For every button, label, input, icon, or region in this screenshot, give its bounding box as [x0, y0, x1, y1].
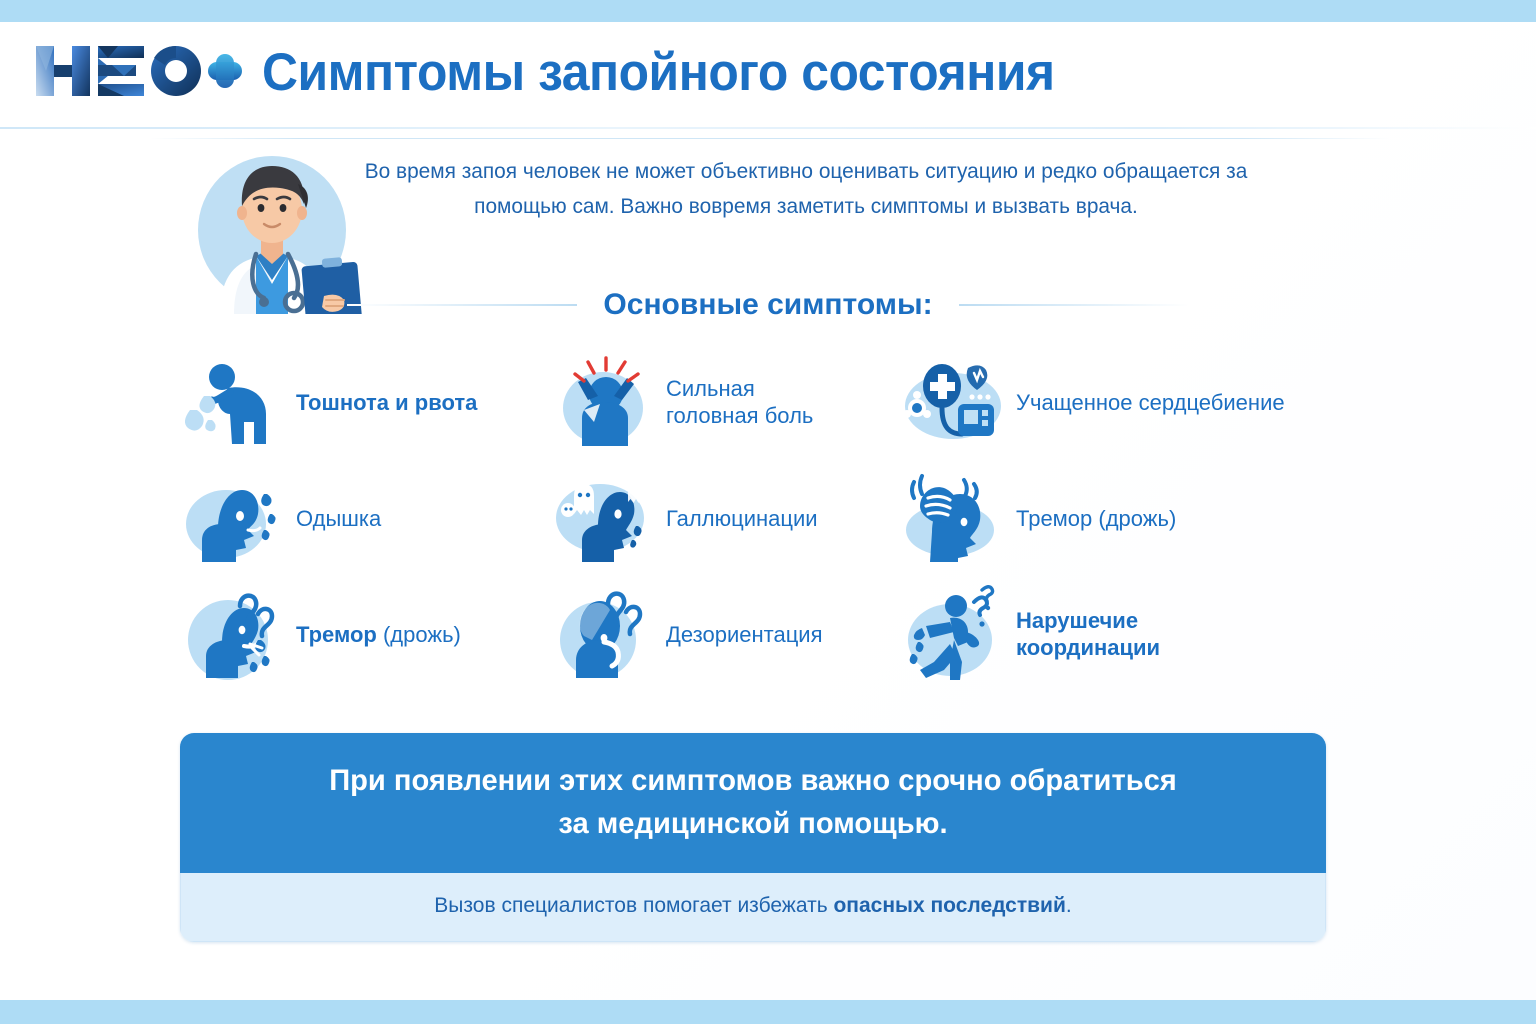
symptom-label-line-2: головная боль — [666, 403, 813, 428]
disorientation-icon — [548, 584, 658, 684]
symptom-label-suffix: (дрожь) — [377, 622, 461, 647]
banner-note: Вызов специалистов помогает избежать опа… — [180, 873, 1326, 942]
symptom-item: Тремор (дрожь) — [898, 460, 1338, 576]
symptom-label-line-1: Нарушечие — [1016, 608, 1138, 633]
banner-headline: При появлении этих симптомов важно срочн… — [180, 733, 1326, 873]
symptom-item: Одышка — [178, 460, 548, 576]
call-to-action-banner: При появлении этих симптомов важно срочн… — [180, 733, 1326, 942]
tremor-head-icon — [898, 468, 1008, 568]
symptom-label: Нарушечиекоординации — [1016, 607, 1160, 661]
symptom-item: Галлюцинации — [548, 460, 898, 576]
symptom-item: Учащенное сердцебиение — [898, 344, 1338, 460]
symptom-label: Тремор (дрожь) — [1016, 505, 1176, 532]
page-header: Симптомы запойного состояния — [0, 22, 1536, 128]
symptom-item: Тошнота и рвота — [178, 344, 548, 460]
symptom-label: Дезориентация — [666, 621, 823, 648]
tremor-sweat-icon — [178, 584, 288, 684]
note-prefix: Вызов специалистов помогает избежать — [434, 894, 833, 917]
symptom-label-line-2: координации — [1016, 635, 1160, 660]
symptom-label: Сильнаяголовная боль — [666, 375, 813, 429]
banner-headline-line-1: При появлении этих симптомов важно срочн… — [236, 759, 1270, 802]
banner-headline-line-2: за медицинской помощью. — [236, 802, 1270, 845]
symptom-label: Тошнота и рвота — [296, 389, 477, 416]
neo-plus-logo — [32, 40, 242, 102]
symptom-label-line-1: Учащенное сердцебиение — [1016, 390, 1285, 415]
heading-rule-left — [347, 304, 577, 306]
note-emphasis: опасных последствий — [833, 894, 1065, 917]
symptoms-grid: Тошнота и рвота Сильнаяголовная боль — [178, 344, 1338, 692]
top-accent-band — [0, 0, 1536, 22]
hallucinations-icon — [548, 468, 658, 568]
vomiting-icon — [178, 352, 288, 452]
page-title: Симптомы запойного состояния — [262, 42, 1055, 103]
banner-note-text: Вызов специалистов помогает избежать опа… — [434, 894, 1071, 917]
symptom-item: Сильнаяголовная боль — [548, 344, 898, 460]
headache-icon — [548, 352, 658, 452]
note-suffix: . — [1066, 894, 1072, 917]
intro-section: Во время запоя человек не может объектив… — [0, 132, 1536, 282]
section-heading: Основные симптомы: — [603, 288, 932, 322]
symptom-label-line-1: Сильная — [666, 376, 755, 401]
infographic-page: Симптомы запойного состояния — [0, 0, 1536, 1024]
symptom-label: Тремор (дрожь) — [296, 621, 461, 648]
header-divider — [0, 127, 1536, 129]
symptom-item: Нарушечиекоординации — [898, 576, 1338, 692]
intro-divider — [150, 138, 1390, 139]
shortness-breath-icon — [178, 468, 288, 568]
symptom-label-line-1: Тремор — [296, 622, 377, 647]
symptom-label-line-1: Тошнота и рвота — [296, 390, 477, 415]
intro-text: Во время запоя человек не может объектив… — [333, 154, 1280, 224]
symptom-label-line-1: Одышка — [296, 506, 381, 531]
symptom-item: Дезориентация — [548, 576, 898, 692]
section-heading-row: Основные симптомы: — [0, 288, 1536, 336]
symptom-item: Тремор (дрожь) — [178, 576, 548, 692]
bottom-accent-band — [0, 1000, 1536, 1024]
coordination-icon — [898, 584, 1008, 684]
symptom-label-line-1: Галлюцинации — [666, 506, 818, 531]
symptom-label: Галлюцинации — [666, 505, 818, 532]
intro-line-1: Во время запоя человек не может объектив… — [365, 159, 1221, 183]
symptom-label: Учащенное сердцебиение — [1016, 389, 1285, 416]
symptom-label-line-1: Тремор (дрожь) — [1016, 506, 1176, 531]
symptom-label: Одышка — [296, 505, 381, 532]
symptom-label-line-1: Дезориентация — [666, 622, 823, 647]
heartbeat-icon — [898, 352, 1008, 452]
heading-rule-right — [959, 304, 1189, 306]
